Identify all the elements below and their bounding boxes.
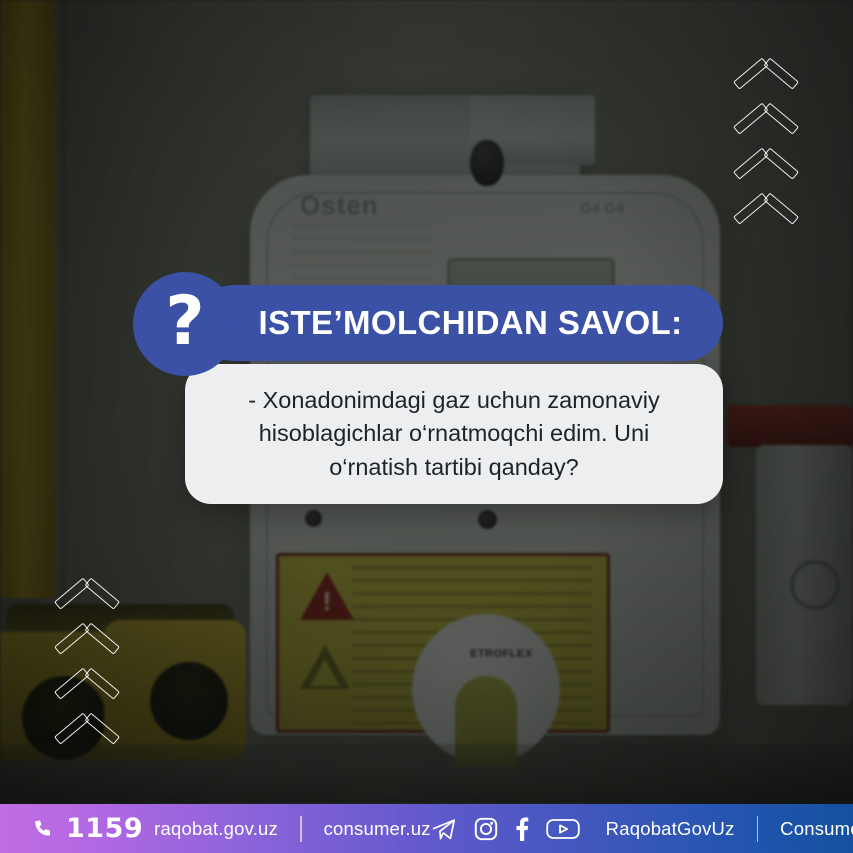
chevron-up-icon (56, 737, 118, 771)
footer-social-group: RaqobatGovUz ConsumerUZ (431, 816, 853, 842)
footer-handle-consumer[interactable]: ConsumerUZ (780, 818, 853, 840)
instagram-icon[interactable] (474, 817, 498, 841)
footer-handle-raqobat[interactable]: RaqobatGovUz (606, 818, 735, 840)
footer-contact-group: 1159 raqobat.gov.uz consumer.uz (0, 813, 431, 844)
footer-divider-2 (757, 816, 759, 842)
page-title: ISTE’MOLCHIDAN SAVOL: (237, 304, 683, 342)
question-mark-icon: ? (165, 288, 204, 356)
phone-icon (33, 817, 55, 841)
footer-bar: 1159 raqobat.gov.uz consumer.uz (0, 804, 853, 853)
footer-divider-1 (300, 816, 302, 842)
youtube-icon[interactable] (546, 817, 580, 841)
social-icons (431, 817, 580, 841)
chevron-group-bottom-left (56, 602, 118, 782)
footer-phone-number[interactable]: 1159 (66, 813, 143, 844)
header-banner: ISTE’MOLCHIDAN SAVOL: (196, 285, 723, 361)
telegram-icon[interactable] (431, 817, 457, 841)
question-mark-badge: ? (133, 272, 237, 376)
facebook-icon[interactable] (515, 817, 529, 841)
footer-website-consumer[interactable]: consumer.uz (324, 818, 431, 840)
chevron-up-icon (735, 217, 797, 251)
poster-canvas: Osten G4 G4 ETROFLEX (0, 0, 853, 853)
footer-website-raqobat[interactable]: raqobat.gov.uz (154, 818, 278, 840)
question-text: - Xonadonimdagi gaz uchun zamonaviy hiso… (185, 384, 723, 484)
question-card: - Xonadonimdagi gaz uchun zamonaviy hiso… (185, 364, 723, 504)
chevron-group-top-right (735, 82, 797, 262)
